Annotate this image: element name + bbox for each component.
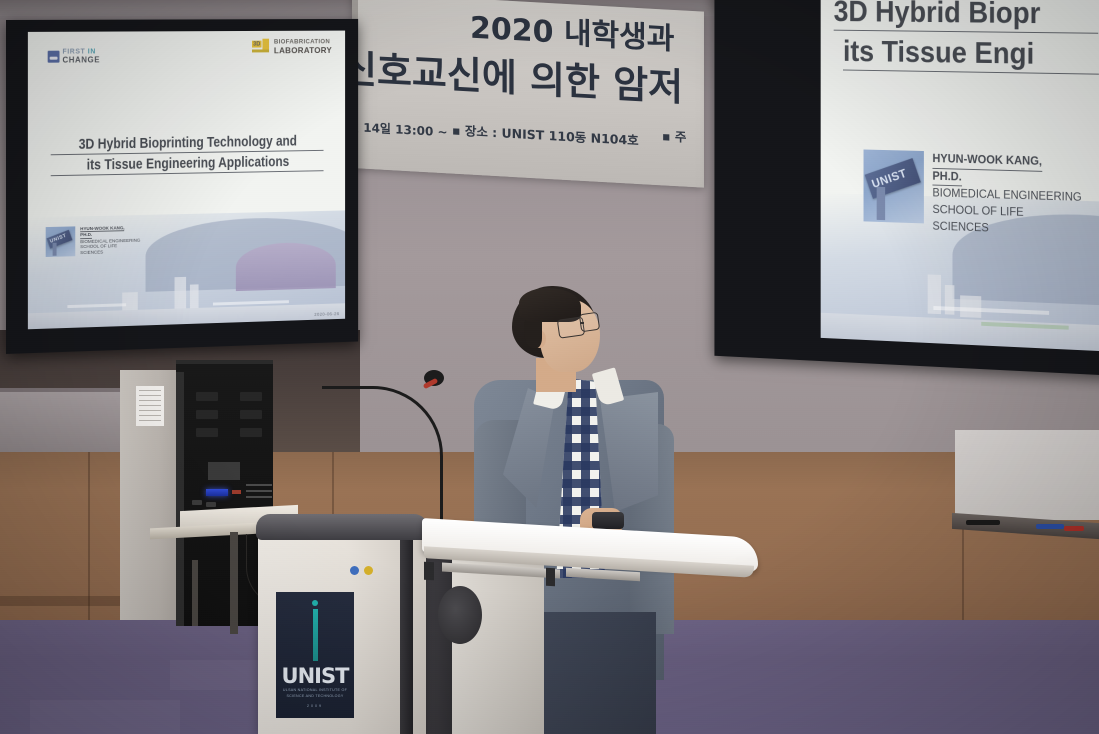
podium-edge-stripe xyxy=(400,540,413,734)
rack-button[interactable] xyxy=(196,410,218,419)
av-rack-side-strip xyxy=(176,372,184,626)
rack-button[interactable] xyxy=(196,428,218,437)
desk-leg xyxy=(192,560,198,626)
sticker-blue xyxy=(350,566,359,575)
biofab-3d-text: 3D xyxy=(253,42,260,48)
slide-right-title-line1: 3D Hybrid Biopr xyxy=(834,0,1099,34)
unist-logo-panel: UNIST ULSAN NATIONAL INSTITUTE OF SCIENC… xyxy=(276,592,354,718)
credit-block-right: UNIST HYUN-WOOK KANG, PH.D. BIOMEDICAL E… xyxy=(864,149,1082,240)
slide-left-title-line1: 3D Hybrid Bioprinting Technology and xyxy=(51,133,324,155)
carpet-tile xyxy=(30,700,180,734)
rack-button[interactable] xyxy=(196,392,218,401)
slide-left-title: 3D Hybrid Bioprinting Technology and its… xyxy=(28,133,345,177)
biofab-mark-icon: 3D xyxy=(252,39,271,56)
projection-screen-left: FIRST IN CHANGE 3D BIOFABRICATION LABORA… xyxy=(6,19,358,354)
podium-top-rail xyxy=(256,514,428,540)
rack-label xyxy=(246,484,272,486)
unist-wordmark: UNIST xyxy=(276,664,354,688)
unist-square-icon xyxy=(48,51,60,63)
eyeglasses-bridge xyxy=(580,322,584,324)
whiteboard xyxy=(955,430,1099,520)
unist-sign-photo: UNIST xyxy=(46,226,76,257)
lecture-hall-photo: 2020 내학생과 신호교신에 의한 암저 월 14일 13:00 ~ ▪ 장소… xyxy=(0,0,1099,734)
marker-red[interactable] xyxy=(1064,526,1084,531)
slide-right-title-line2: its Tissue Engi xyxy=(843,34,1099,75)
rack-indicator-red xyxy=(232,490,241,494)
unist-i-dot-icon xyxy=(312,600,318,606)
unist-i-bar-icon xyxy=(313,609,318,661)
presenter-remote[interactable] xyxy=(592,512,624,529)
banner-date: 월 14일 13:00 ~ xyxy=(348,118,448,141)
banner-place: ▪ 장소 : UNIST 110동 N104호 xyxy=(452,120,639,149)
posted-note xyxy=(136,386,164,426)
rack-button[interactable] xyxy=(240,410,262,419)
logo-first-in-change: FIRST IN CHANGE xyxy=(48,49,100,63)
slide-left: FIRST IN CHANGE 3D BIOFABRICATION LABORA… xyxy=(28,31,345,330)
unist-sub-line-3: 2009 xyxy=(276,704,354,708)
fic-in-text: IN xyxy=(88,48,96,55)
podium-bracket xyxy=(546,568,555,587)
rack-label xyxy=(246,496,272,498)
slide-right: 3D Hybrid Biopr its Tissue Engi UNIST xyxy=(821,0,1099,351)
desk-leg xyxy=(230,532,238,634)
marker-blue[interactable] xyxy=(1036,524,1064,529)
rack-label xyxy=(246,490,272,492)
fic-change-text: CHANGE xyxy=(62,56,100,64)
biofab-line2: LABORATORY xyxy=(274,46,332,55)
credit-degree-right: PH.D. xyxy=(932,169,961,187)
podium-bracket xyxy=(424,562,434,581)
sticker-gold xyxy=(364,566,373,575)
unist-sub-line-2: SCIENCE AND TECHNOLOGY xyxy=(276,694,354,698)
logo-biofabrication-lab: 3D BIOFABRICATION LABORATORY xyxy=(252,38,332,55)
rack-button-small[interactable] xyxy=(206,502,216,507)
slide-left-title-line2: its Tissue Engineering Applications xyxy=(51,154,324,176)
rack-button[interactable] xyxy=(240,428,262,437)
event-banner: 2020 내학생과 신호교신에 의한 암저 월 14일 13:00 ~ ▪ 장소… xyxy=(352,0,704,188)
rack-button[interactable] xyxy=(240,392,262,401)
credit-school-2: SCIENCES xyxy=(80,248,140,255)
podium-round-recess xyxy=(438,586,482,644)
rack-button-small[interactable] xyxy=(192,500,202,505)
rack-led-display xyxy=(206,489,228,496)
rack-display-panel xyxy=(208,462,240,480)
projection-screen-right: 3D Hybrid Biopr its Tissue Engi UNIST xyxy=(714,0,1099,376)
credit-block-left: UNIST HYUN-WOOK KANG, PH.D. BIOMEDICAL E… xyxy=(46,225,141,257)
unist-sign-photo-right: UNIST xyxy=(864,149,924,223)
banner-host: ▪ 주 xyxy=(662,125,686,145)
slide-date-stamp: 2020-06-26 xyxy=(314,311,339,317)
speaker-trousers xyxy=(538,612,656,734)
unist-sub-line-1: ULSAN NATIONAL INSTITUTE OF xyxy=(276,688,354,692)
marker-black[interactable] xyxy=(966,520,1000,525)
slide-right-title: 3D Hybrid Biopr its Tissue Engi xyxy=(834,0,1099,75)
